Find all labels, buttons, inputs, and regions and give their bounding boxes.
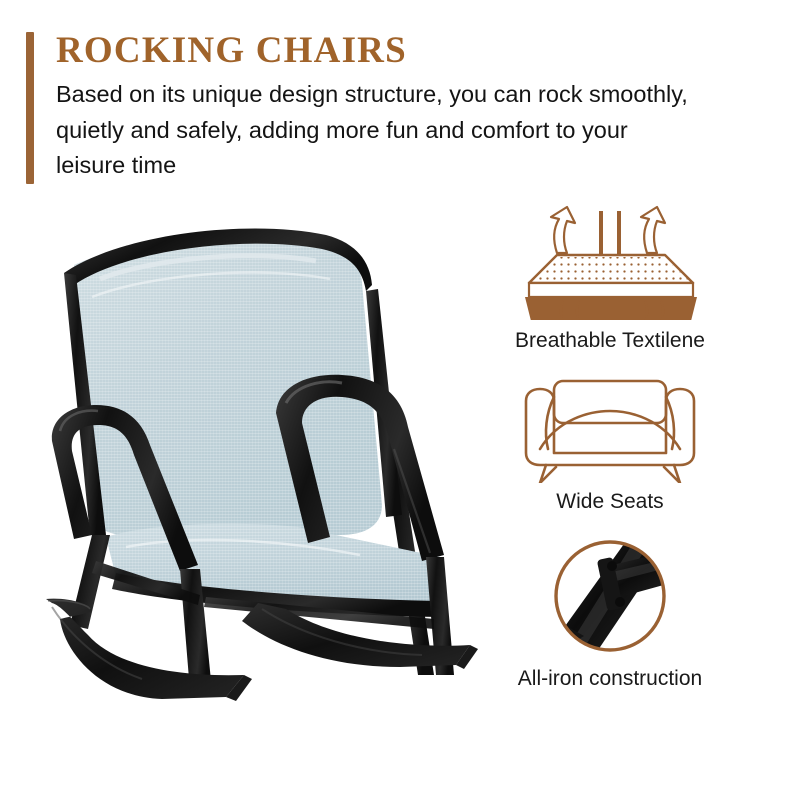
accent-bar: [26, 32, 34, 184]
feature-caption-wide-seats: Wide Seats: [556, 490, 663, 514]
product-image: [30, 205, 500, 725]
feature-item-wide-seats: Wide Seats: [440, 375, 780, 514]
feature-caption-iron: All-iron construction: [518, 667, 702, 691]
sofa-icon: [510, 375, 710, 488]
feature-caption-textilene: Breathable Textilene: [515, 329, 705, 353]
feature-item-iron: All-iron construction: [440, 536, 780, 691]
feature-item-textilene: Breathable Textilene: [440, 205, 780, 353]
page-title: ROCKING CHAIRS: [56, 32, 726, 71]
page-subtitle: Based on its unique design structure, yo…: [56, 77, 696, 184]
chair-graphic: [46, 229, 478, 701]
header-text-group: ROCKING CHAIRS Based on its unique desig…: [34, 32, 726, 184]
breathable-mesh-icon: [495, 205, 725, 325]
iron-tube-joint-icon: [550, 536, 670, 661]
feature-list: Breathable Textilene: [440, 205, 780, 713]
header-block: ROCKING CHAIRS Based on its unique desig…: [26, 32, 726, 184]
